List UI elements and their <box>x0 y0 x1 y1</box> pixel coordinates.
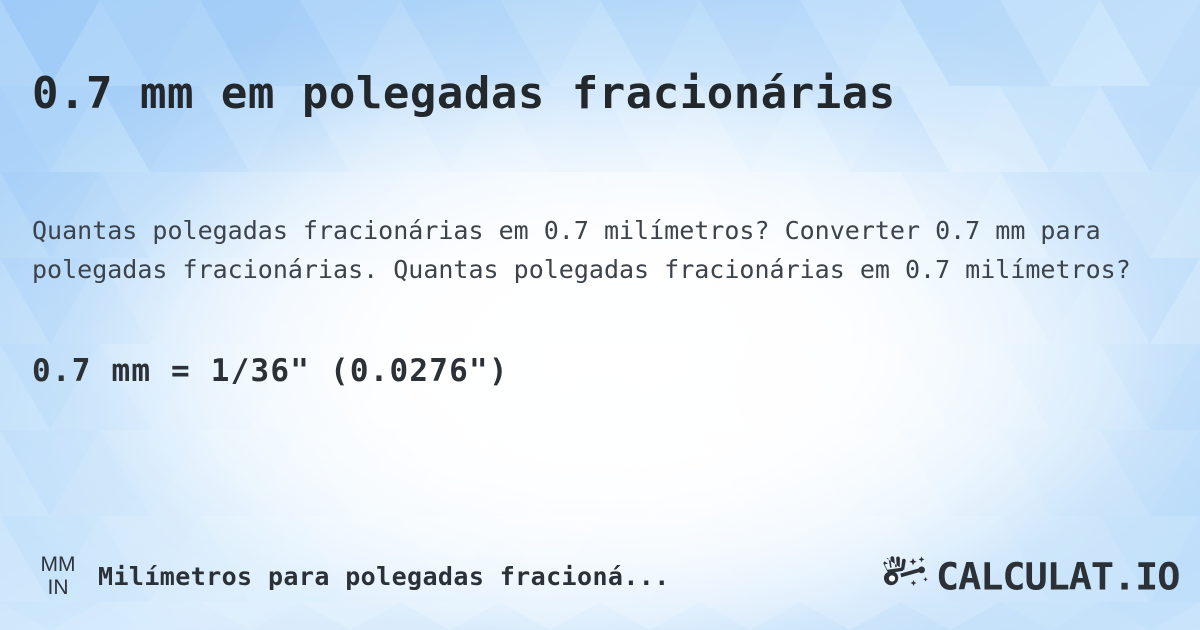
footer-converter-title: Milímetros para polegadas fracioná... <box>98 562 866 591</box>
share-card: 0.7 mm em polegadas fracionárias Quantas… <box>0 0 1200 630</box>
mm-to-in-icon: MM IN <box>30 550 86 602</box>
brand-logo[interactable]: CALCULAT.IO <box>880 555 1170 597</box>
conversion-result: 0.7 mm = 1/36" (0.0276") <box>32 353 509 389</box>
brand-name: CALCULAT.IO <box>936 557 1179 595</box>
footer-bar: MM IN Milímetros para polegadas fracioná… <box>0 548 1200 604</box>
description-text: Quantas polegadas fracionárias em 0.7 mi… <box>32 211 1160 289</box>
magic-wand-hand-icon <box>880 555 934 597</box>
card-content: 0.7 mm em polegadas fracionárias Quantas… <box>0 0 1200 630</box>
page-title: 0.7 mm em polegadas fracionárias <box>32 69 1162 118</box>
unit-from-label: MM <box>41 554 76 575</box>
unit-to-label: IN <box>48 577 69 598</box>
